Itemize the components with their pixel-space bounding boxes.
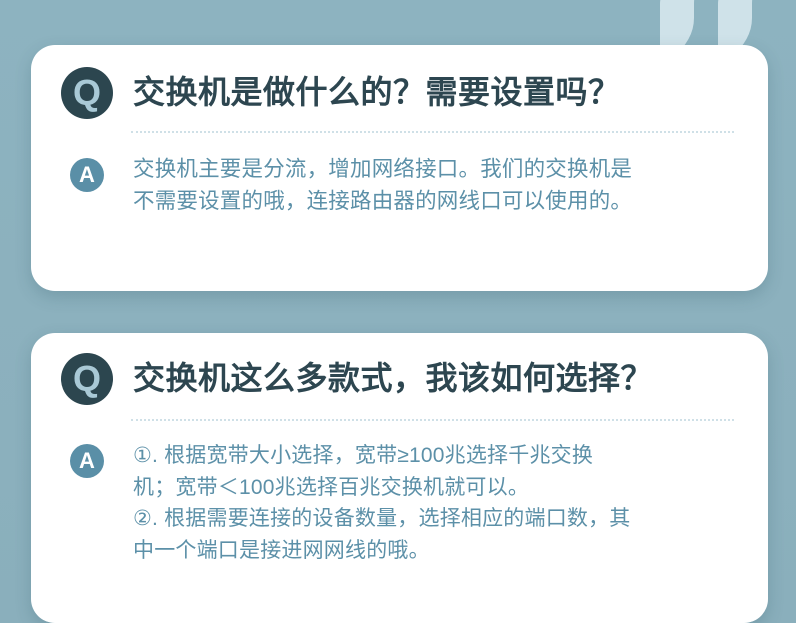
answer-badge-wrap: A — [61, 440, 113, 478]
faq-card-1: Q 交换机是做什么的？需要设置吗？ A 交换机主要是分流，增加网络接口。我们的交… — [31, 45, 768, 291]
answer-text: ①. 根据宽带大小选择，宽带≥100兆选择千兆交换 机；宽带＜100兆选择百兆交… — [133, 440, 728, 566]
question-row: Q 交换机是做什么的？需要设置吗？ — [31, 45, 768, 119]
answer-line: 机；宽带＜100兆选择百兆交换机就可以。 — [133, 472, 728, 504]
question-badge-icon: Q — [61, 67, 113, 119]
question-row: Q 交换机这么多款式，我该如何选择？ — [31, 333, 768, 405]
answer-line: 不需要设置的哦，连接路由器的网线口可以使用的。 — [133, 186, 728, 218]
answer-line: ①. 根据宽带大小选择，宽带≥100兆选择千兆交换 — [133, 440, 728, 472]
answer-line: 中一个端口是接进网网线的哦。 — [133, 535, 728, 567]
question-title: 交换机这么多款式，我该如何选择？ — [133, 360, 653, 398]
faq-page: Q 交换机是做什么的？需要设置吗？ A 交换机主要是分流，增加网络接口。我们的交… — [0, 0, 796, 623]
answer-row: A ①. 根据宽带大小选择，宽带≥100兆选择千兆交换 机；宽带＜100兆选择百… — [31, 422, 768, 566]
answer-badge-icon: A — [70, 444, 104, 478]
answer-text: 交换机主要是分流，增加网络接口。我们的交换机是 不需要设置的哦，连接路由器的网线… — [133, 154, 728, 218]
question-badge-icon: Q — [61, 353, 113, 405]
faq-card-2: Q 交换机这么多款式，我该如何选择？ A ①. 根据宽带大小选择，宽带≥100兆… — [31, 333, 768, 623]
answer-badge-icon: A — [70, 158, 104, 192]
answer-row: A 交换机主要是分流，增加网络接口。我们的交换机是 不需要设置的哦，连接路由器的… — [31, 134, 768, 218]
answer-line: ②. 根据需要连接的设备数量，选择相应的端口数，其 — [133, 503, 728, 535]
answer-line: 交换机主要是分流，增加网络接口。我们的交换机是 — [133, 154, 728, 186]
question-title: 交换机是做什么的？需要设置吗？ — [133, 74, 621, 112]
answer-badge-wrap: A — [61, 154, 113, 192]
